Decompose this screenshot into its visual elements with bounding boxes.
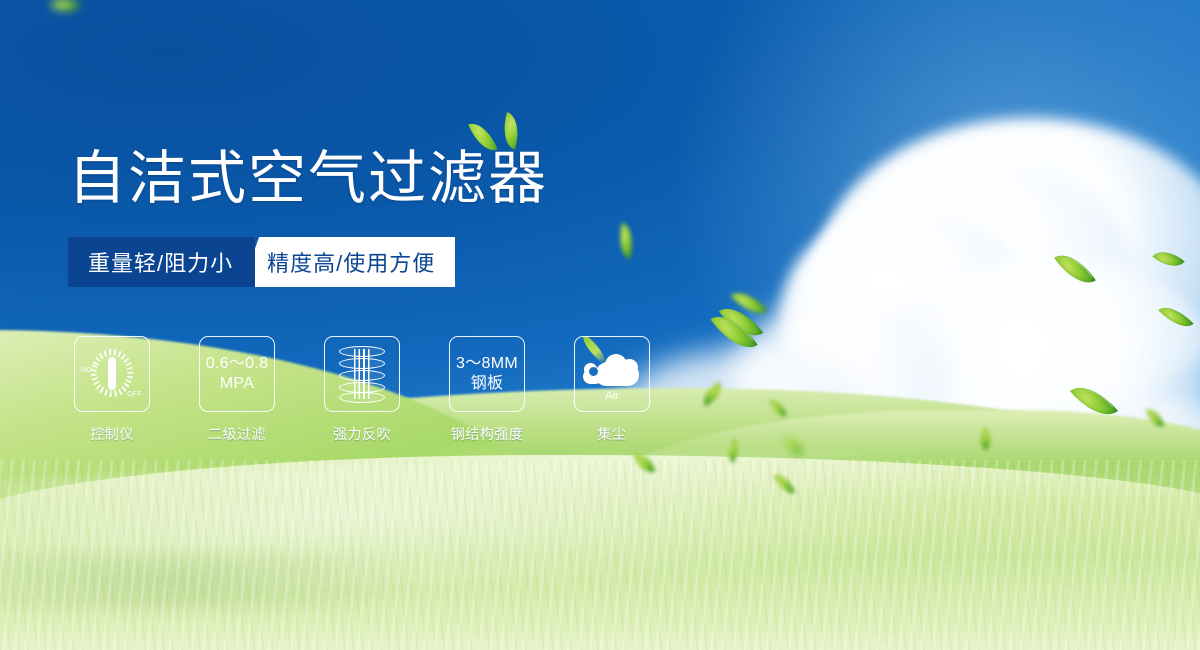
cartridge-disc (339, 370, 385, 381)
feature-item-controller[interactable]: NO OFF 控制仪 (74, 336, 150, 444)
feature-icon-box: NO OFF (74, 336, 150, 412)
feature-icon-box: Air (574, 336, 650, 412)
air-cloud-icon: Air (581, 349, 643, 399)
air-label: Air (581, 390, 643, 402)
cloud-bump (621, 359, 638, 376)
feature-label: 钢结构强度 (451, 424, 524, 444)
subtitle-ribbon: 重量轻/阻力小 精度高/使用方便 (68, 237, 455, 287)
steel-value-line2: 钢板 (471, 374, 504, 394)
gauge-dial-icon: NO OFF (83, 345, 141, 403)
feature-label: 集尘 (598, 424, 627, 444)
filter-cartridge-icon (337, 345, 387, 403)
cartridge-disc (339, 346, 385, 357)
gauge-no-label: NO (81, 367, 92, 374)
feature-item-backblow[interactable]: 强力反吹 (324, 336, 400, 444)
feature-item-secondary-filter[interactable]: 0.6～0.8 MPA 二级过滤 (199, 336, 275, 444)
banner-content: 自洁式空气过滤器 重量轻/阻力小 精度高/使用方便 NO OFF 控制仪 (0, 0, 1200, 650)
steel-value-line1: 3～8MM (456, 354, 518, 374)
feature-icon-box: 0.6～0.8 MPA (199, 336, 275, 412)
ribbon-left-text: 重量轻/阻力小 (68, 237, 255, 287)
page-title: 自洁式空气过滤器 (68, 146, 548, 212)
feature-list: NO OFF 控制仪 0.6～0.8 MPA 二级过滤 (74, 336, 650, 444)
ribbon-right-text: 精度高/使用方便 (241, 237, 455, 287)
gauge-off-label: OFF (127, 391, 142, 398)
pressure-value-line1: 0.6～0.8 (206, 354, 269, 374)
pressure-value-line2: MPA (220, 374, 254, 394)
feature-item-steel-strength[interactable]: 3～8MM 钢板 钢结构强度 (449, 336, 525, 444)
cartridge-disc (339, 358, 385, 369)
feature-label: 强力反吹 (333, 424, 391, 444)
feature-label: 控制仪 (90, 424, 134, 444)
feature-item-dust-collection[interactable]: Air 集尘 (574, 336, 650, 444)
feature-label: 二级过滤 (208, 424, 266, 444)
cartridge-disc (339, 392, 385, 403)
sprout-leaf-right (498, 112, 525, 150)
gauge-needle (108, 357, 116, 390)
product-banner: 自洁式空气过滤器 重量轻/阻力小 精度高/使用方便 NO OFF 控制仪 (0, 0, 1200, 650)
feature-icon-box: 3～8MM 钢板 (449, 336, 525, 412)
feature-icon-box (324, 336, 400, 412)
cloud-notch (589, 367, 598, 376)
